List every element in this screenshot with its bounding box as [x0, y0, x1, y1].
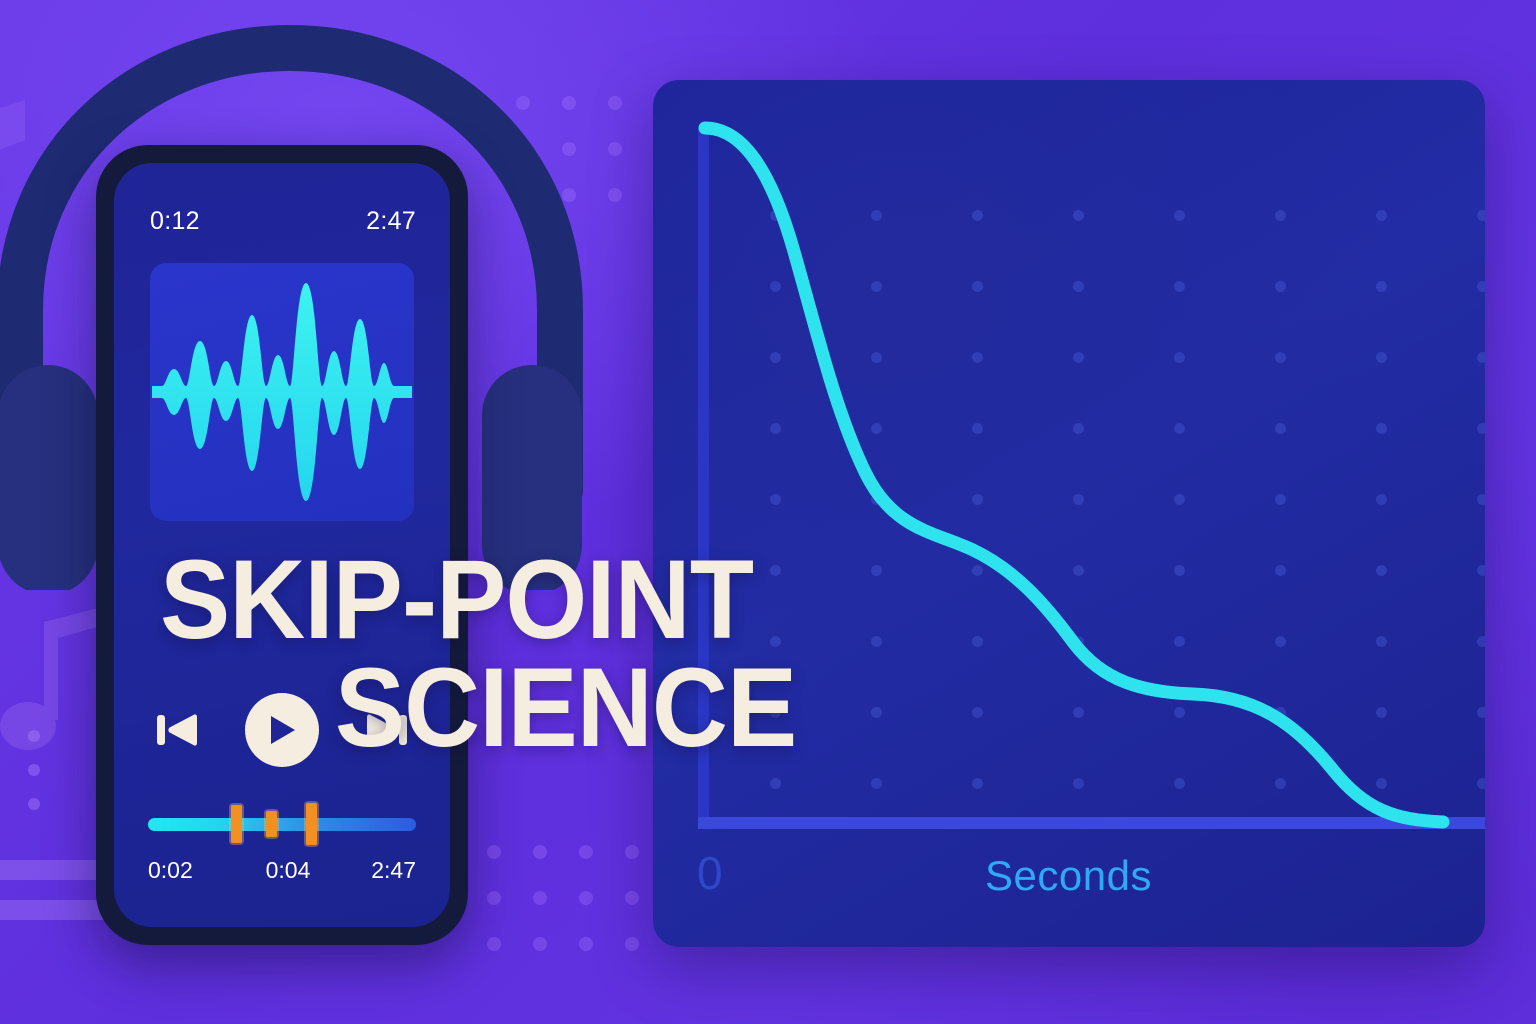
- retention-chart-card: 0 Seconds: [653, 80, 1485, 947]
- background-dot-grid-bottom: [487, 845, 639, 951]
- skip-marker-1[interactable]: [231, 805, 242, 843]
- title-line-1: SKIP-POINT: [160, 537, 753, 662]
- total-time: 2:47: [366, 207, 416, 236]
- waveform-panel: [150, 263, 414, 521]
- retention-curve: [653, 80, 1485, 947]
- seek-start-time: 0:02: [148, 857, 193, 884]
- page-title: SKIP-POINT SCIENCE: [160, 548, 1006, 760]
- seek-mid-time: 0:04: [266, 857, 311, 884]
- title-line-2: SCIENCE: [335, 656, 1006, 760]
- poster-canvas: 0:12 2:47: [0, 0, 1536, 1024]
- seek-end-time: 2:47: [371, 857, 416, 884]
- elapsed-time: 0:12: [150, 207, 200, 236]
- seek-bar[interactable]: [148, 818, 416, 831]
- seek-time-labels: 0:02 0:04 2:47: [148, 857, 416, 884]
- x-axis-zero-label: 0: [697, 846, 723, 900]
- playback-status-bar: 0:12 2:47: [150, 207, 416, 236]
- x-axis-label: Seconds: [985, 852, 1152, 900]
- audio-waveform-icon: [150, 263, 414, 521]
- seek-area: 0:02 0:04 2:47: [148, 818, 416, 884]
- decorative-dots-left: [28, 730, 40, 832]
- skip-marker-3[interactable]: [306, 803, 317, 845]
- skip-marker-2[interactable]: [266, 811, 277, 837]
